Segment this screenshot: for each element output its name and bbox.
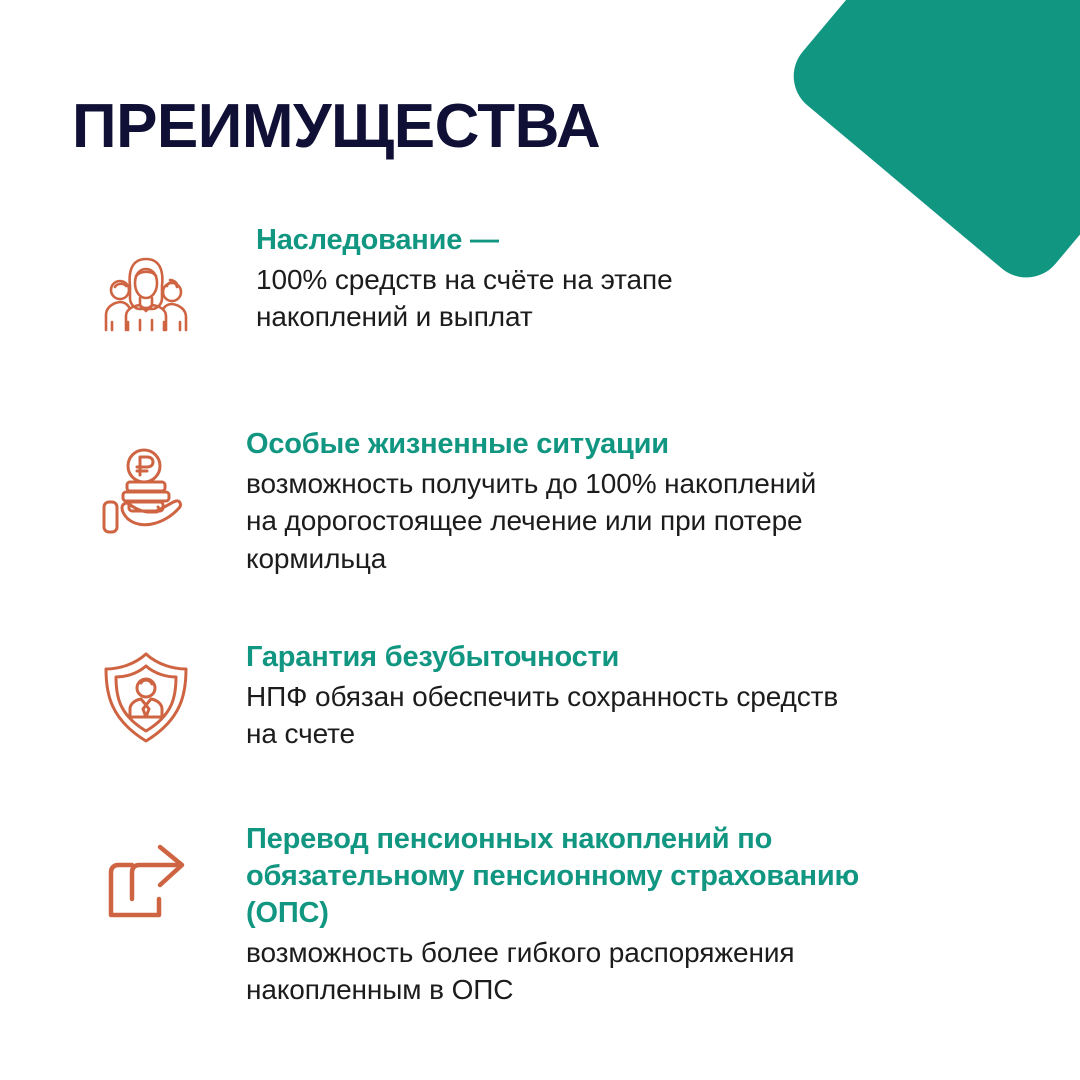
benefit-heading-line: Перевод пенсионных накоплений (246, 823, 729, 855)
benefit-item-special-situations: Особые жизненные ситуации возможность по… (0, 426, 1080, 577)
benefit-body-line: накоплений и выплат (256, 298, 936, 335)
benefit-heading: Гарантия безубыточности (246, 639, 926, 676)
benefit-body: возможность более гибкого распоряжения н… (246, 934, 926, 1008)
export-arrow-icon (90, 821, 202, 955)
benefit-text-block: Особые жизненные ситуации возможность по… (202, 426, 926, 577)
benefits-list: Наследование — 100% средств на счёте на … (0, 222, 1080, 1009)
benefit-body-line: на счете (246, 715, 926, 752)
hand-holding-ruble-coins-icon (90, 426, 202, 554)
shield-person-icon (90, 639, 202, 759)
benefit-heading: Наследование — (256, 222, 936, 259)
benefit-body-line: возможность получить до 100% накоплений (246, 465, 926, 502)
benefit-item-inheritance: Наследование — 100% средств на счёте на … (0, 222, 1080, 354)
benefit-body-line: НПФ обязан обеспечить сохранность средст… (246, 678, 926, 715)
benefit-text-block: Гарантия безубыточности НПФ обязан обесп… (202, 639, 926, 753)
benefit-body-line: 100% средств на счёте на этапе (256, 261, 936, 298)
benefit-body-line: накопленным в ОПС (246, 971, 926, 1008)
benefit-body: 100% средств на счёте на этапе накоплени… (256, 261, 936, 335)
benefit-body: НПФ обязан обеспечить сохранность средст… (246, 678, 926, 752)
benefit-body-line: на дорогостоящее лечение или при потере (246, 502, 926, 539)
benefit-item-ops-transfer: Перевод пенсионных накоплений по обязате… (0, 821, 1080, 1009)
benefit-text-block: Наследование — 100% средств на счёте на … (202, 222, 936, 336)
benefit-item-guarantee: Гарантия безубыточности НПФ обязан обесп… (0, 639, 1080, 759)
family-group-icon (90, 222, 202, 354)
benefit-body: возможность получить до 100% накоплений … (246, 465, 926, 577)
benefit-body-line: возможность более гибкого распоряжения (246, 934, 926, 971)
benefit-heading: Перевод пенсионных накоплений по обязате… (246, 821, 926, 932)
benefit-body-line: кормильца (246, 540, 926, 577)
benefit-text-block: Перевод пенсионных накоплений по обязате… (202, 821, 926, 1009)
slide-root: ПРЕИМУЩЕСТВА (0, 0, 1080, 1080)
page-title: ПРЕИМУЩЕСТВА (72, 96, 600, 158)
benefit-heading: Особые жизненные ситуации (246, 426, 926, 463)
